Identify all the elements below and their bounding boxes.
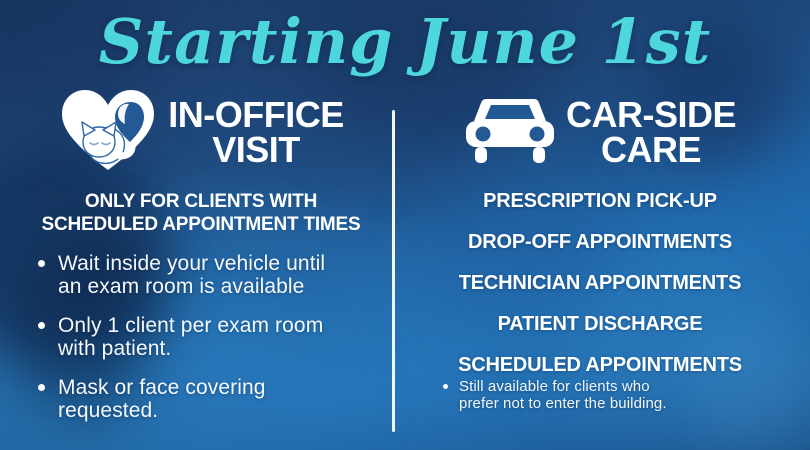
list-item: DROP-OFF APPOINTMENTS	[404, 231, 796, 253]
in-office-visit-lead: ONLY FOR CLIENTS WITH SCHEDULED APPOINTM…	[20, 190, 382, 236]
announcement-poster: Starting June 1st	[0, 0, 810, 450]
list-item: PATIENT DISCHARGE	[404, 313, 796, 335]
list-item: Wait inside your vehicle until an exam r…	[58, 252, 382, 298]
car-icon	[464, 93, 556, 172]
in-office-visit-bullet-list: Wait inside your vehicle until an exam r…	[20, 252, 382, 422]
column-divider	[392, 110, 395, 432]
heart-pet-icon	[58, 86, 158, 179]
car-side-care-service-list: PRESCRIPTION PICK-UP DROP-OFF APPOINTMEN…	[404, 190, 796, 412]
poster-content: Starting June 1st	[0, 0, 810, 450]
page-title: Starting June 1st	[0, 4, 810, 80]
car-side-care-column: CAR-SIDE CARE PRESCRIPTION PICK-UP DROP-…	[404, 86, 796, 412]
car-side-care-header: CAR-SIDE CARE	[404, 86, 796, 178]
in-office-visit-column: IN-OFFICE VISIT ONLY FOR CLIENTS WITH SC…	[20, 86, 382, 438]
list-item: PRESCRIPTION PICK-UP	[404, 190, 796, 212]
in-office-visit-header: IN-OFFICE VISIT	[20, 86, 382, 178]
list-item: Only 1 client per exam room with patient…	[58, 314, 382, 360]
car-side-care-subnote: Still available for clients who prefer n…	[441, 378, 759, 412]
in-office-visit-title: IN-OFFICE VISIT	[168, 97, 343, 167]
list-item: SCHEDULED APPOINTMENTS	[404, 354, 796, 376]
list-item: Mask or face covering requested.	[58, 376, 382, 422]
list-item: TECHNICIAN APPOINTMENTS	[404, 272, 796, 294]
car-side-care-title: CAR-SIDE CARE	[566, 97, 736, 167]
